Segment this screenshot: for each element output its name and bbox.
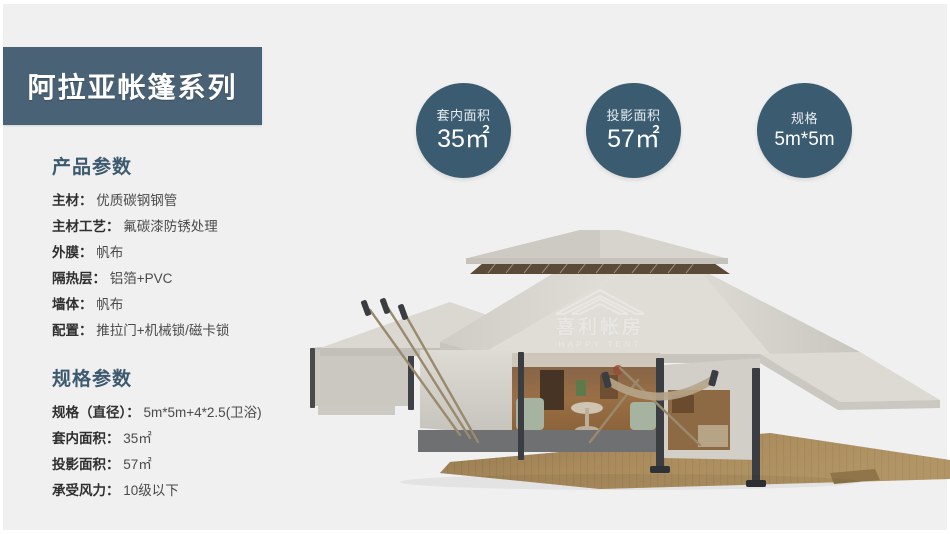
product-param-row: 主材： 优质碳钢钢管	[52, 188, 352, 214]
post-right	[752, 368, 760, 486]
param-value: 35㎡	[123, 431, 152, 446]
param-value: 帆布	[96, 245, 123, 260]
porch-rug	[698, 425, 728, 447]
param-key: 配置：	[52, 323, 93, 338]
badge-label: 投影面积	[606, 109, 660, 122]
ground-shadow	[400, 474, 860, 490]
badge-label: 规格	[791, 112, 818, 125]
param-key: 规格（直径）：	[52, 405, 140, 420]
param-key: 外膜：	[52, 245, 93, 260]
building-plinth	[418, 430, 663, 452]
badge-value: 5m*5m	[774, 130, 834, 149]
badge-indoor-area: 套内面积 35㎡	[416, 83, 511, 178]
badge-specification: 规格 5m*5m	[757, 83, 852, 178]
badge-value: 35㎡	[437, 127, 490, 152]
param-value: 推拉门+机械锁/磁卡锁	[96, 323, 229, 338]
tent-illustration	[300, 230, 950, 495]
slide-canvas: 阿拉亚帐篷系列 产品参数 主材： 优质碳钢钢管 主材工艺： 氟碳漆防锈处理 外膜…	[0, 0, 950, 534]
product-params-heading: 产品参数	[52, 152, 352, 179]
param-value: 氟碳漆防锈处理	[123, 219, 218, 234]
annex-post-left	[310, 348, 315, 408]
post-center	[656, 358, 664, 470]
param-value: 5m*5m+4*2.5(卫浴)	[144, 405, 262, 420]
param-value: 57㎡	[123, 457, 152, 472]
guy-rope-anchors	[360, 297, 408, 320]
param-key: 主材工艺：	[52, 219, 120, 234]
frame-edge-bottom	[0, 530, 950, 534]
badge-label: 套内面积	[436, 109, 490, 122]
frame-edge-top	[0, 0, 950, 4]
badge-projected-area: 投影面积 57㎡	[586, 83, 681, 178]
param-key: 隔热层：	[52, 271, 106, 286]
post-left	[518, 352, 524, 460]
glass-transom	[512, 353, 660, 367]
param-key: 套内面积：	[52, 431, 120, 446]
roof-top-cap-left	[468, 230, 600, 258]
page-title: 阿拉亚帐篷系列	[27, 66, 237, 106]
param-key: 投影面积：	[52, 457, 120, 472]
param-value: 10级以下	[123, 483, 179, 498]
roof-top-cap-fascia	[466, 258, 728, 264]
param-value: 优质碳钢钢管	[96, 193, 177, 208]
badge-value: 57㎡	[607, 127, 660, 152]
param-value: 铝箔+PVC	[110, 271, 173, 286]
param-value: 帆布	[96, 297, 123, 312]
title-banner: 阿拉亚帐篷系列	[3, 47, 262, 125]
param-key: 墙体：	[52, 297, 93, 312]
post-foot-center	[650, 466, 670, 473]
param-key: 承受风力：	[52, 483, 120, 498]
param-key: 主材：	[52, 193, 93, 208]
